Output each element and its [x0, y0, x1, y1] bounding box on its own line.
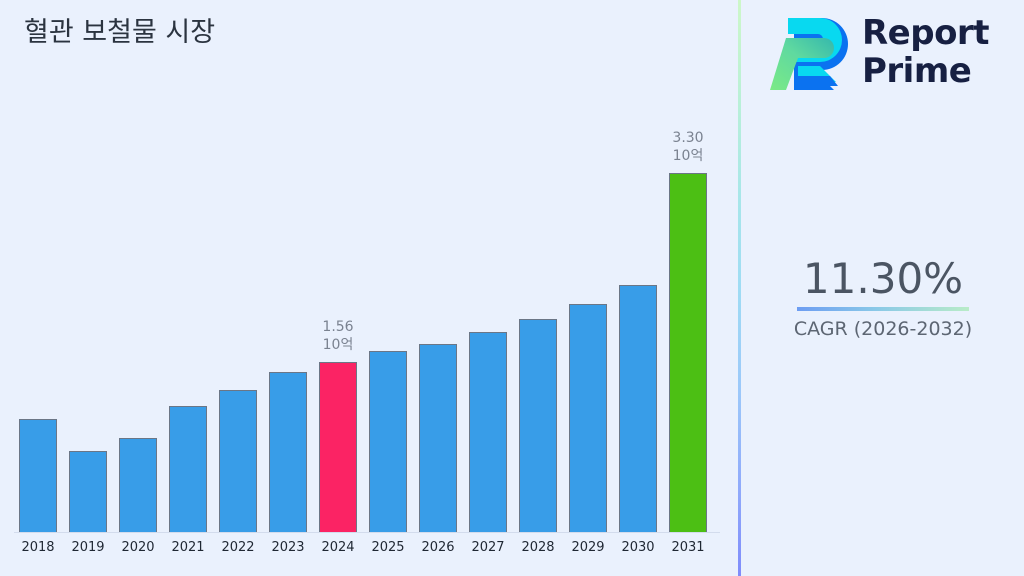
bar-2026 — [419, 344, 457, 532]
panel-divider — [738, 0, 741, 576]
bar-2030 — [619, 285, 657, 532]
x-axis-tick-2022: 2022 — [211, 540, 265, 555]
x-axis-tick-2026: 2026 — [411, 540, 465, 555]
cagr-label: CAGR (2026-2032) — [742, 317, 1024, 341]
brand-wordmark: Report Prime — [862, 14, 989, 90]
x-axis-tick-2030: 2030 — [611, 540, 665, 555]
brand-wordmark-line1: Report — [862, 14, 989, 52]
bar-value-number-2024: 1.56 — [293, 318, 383, 336]
bar-value-number-2031: 3.30 — [643, 129, 733, 147]
x-axis-tick-2019: 2019 — [61, 540, 115, 555]
cagr-block: 11.30% CAGR (2026-2032) — [742, 255, 1024, 341]
bar-2027 — [469, 332, 507, 532]
bar-2024 — [319, 362, 357, 532]
cagr-divider-rule — [797, 307, 969, 311]
x-axis-tick-2018: 2018 — [11, 540, 65, 555]
x-axis-tick-2031: 2031 — [661, 540, 715, 555]
infographic-root: 혈관 보철물 시장 2018201920202021202220231.5610… — [0, 0, 1024, 576]
x-axis-tick-2027: 2027 — [461, 540, 515, 555]
brand-wordmark-line2: Prime — [862, 52, 989, 90]
brand-logo: Report Prime — [768, 10, 1008, 98]
side-panel: Report Prime 11.30% CAGR (2026-2032) — [742, 0, 1024, 576]
x-axis-tick-2024: 2024 — [311, 540, 365, 555]
report-prime-r-monogram-icon — [768, 14, 854, 94]
bar-2028 — [519, 319, 557, 532]
bar-2022 — [219, 390, 257, 532]
bar-2029 — [569, 304, 607, 532]
cagr-value: 11.30% — [742, 255, 1024, 303]
bar-value-label-2024: 1.5610억 — [293, 318, 383, 354]
bar-value-label-2031: 3.3010억 — [643, 129, 733, 165]
x-axis-tick-2029: 2029 — [561, 540, 615, 555]
x-axis-tick-2023: 2023 — [261, 540, 315, 555]
x-axis-tick-2021: 2021 — [161, 540, 215, 555]
bar-value-unit-2031: 10억 — [643, 147, 733, 165]
bar-2025 — [369, 351, 407, 532]
bar-2018 — [19, 419, 57, 532]
bar-chart-plot: 2018201920202021202220231.5610억202420252… — [0, 0, 739, 533]
x-axis-line — [14, 532, 720, 533]
x-axis-tick-2020: 2020 — [111, 540, 165, 555]
chart-panel: 혈관 보철물 시장 2018201920202021202220231.5610… — [0, 0, 739, 576]
bar-2019 — [69, 451, 107, 532]
bar-2021 — [169, 406, 207, 532]
x-axis-tick-2025: 2025 — [361, 540, 415, 555]
bar-2031 — [669, 173, 707, 532]
bar-2020 — [119, 438, 157, 532]
bar-2023 — [269, 372, 307, 532]
x-axis-tick-2028: 2028 — [511, 540, 565, 555]
